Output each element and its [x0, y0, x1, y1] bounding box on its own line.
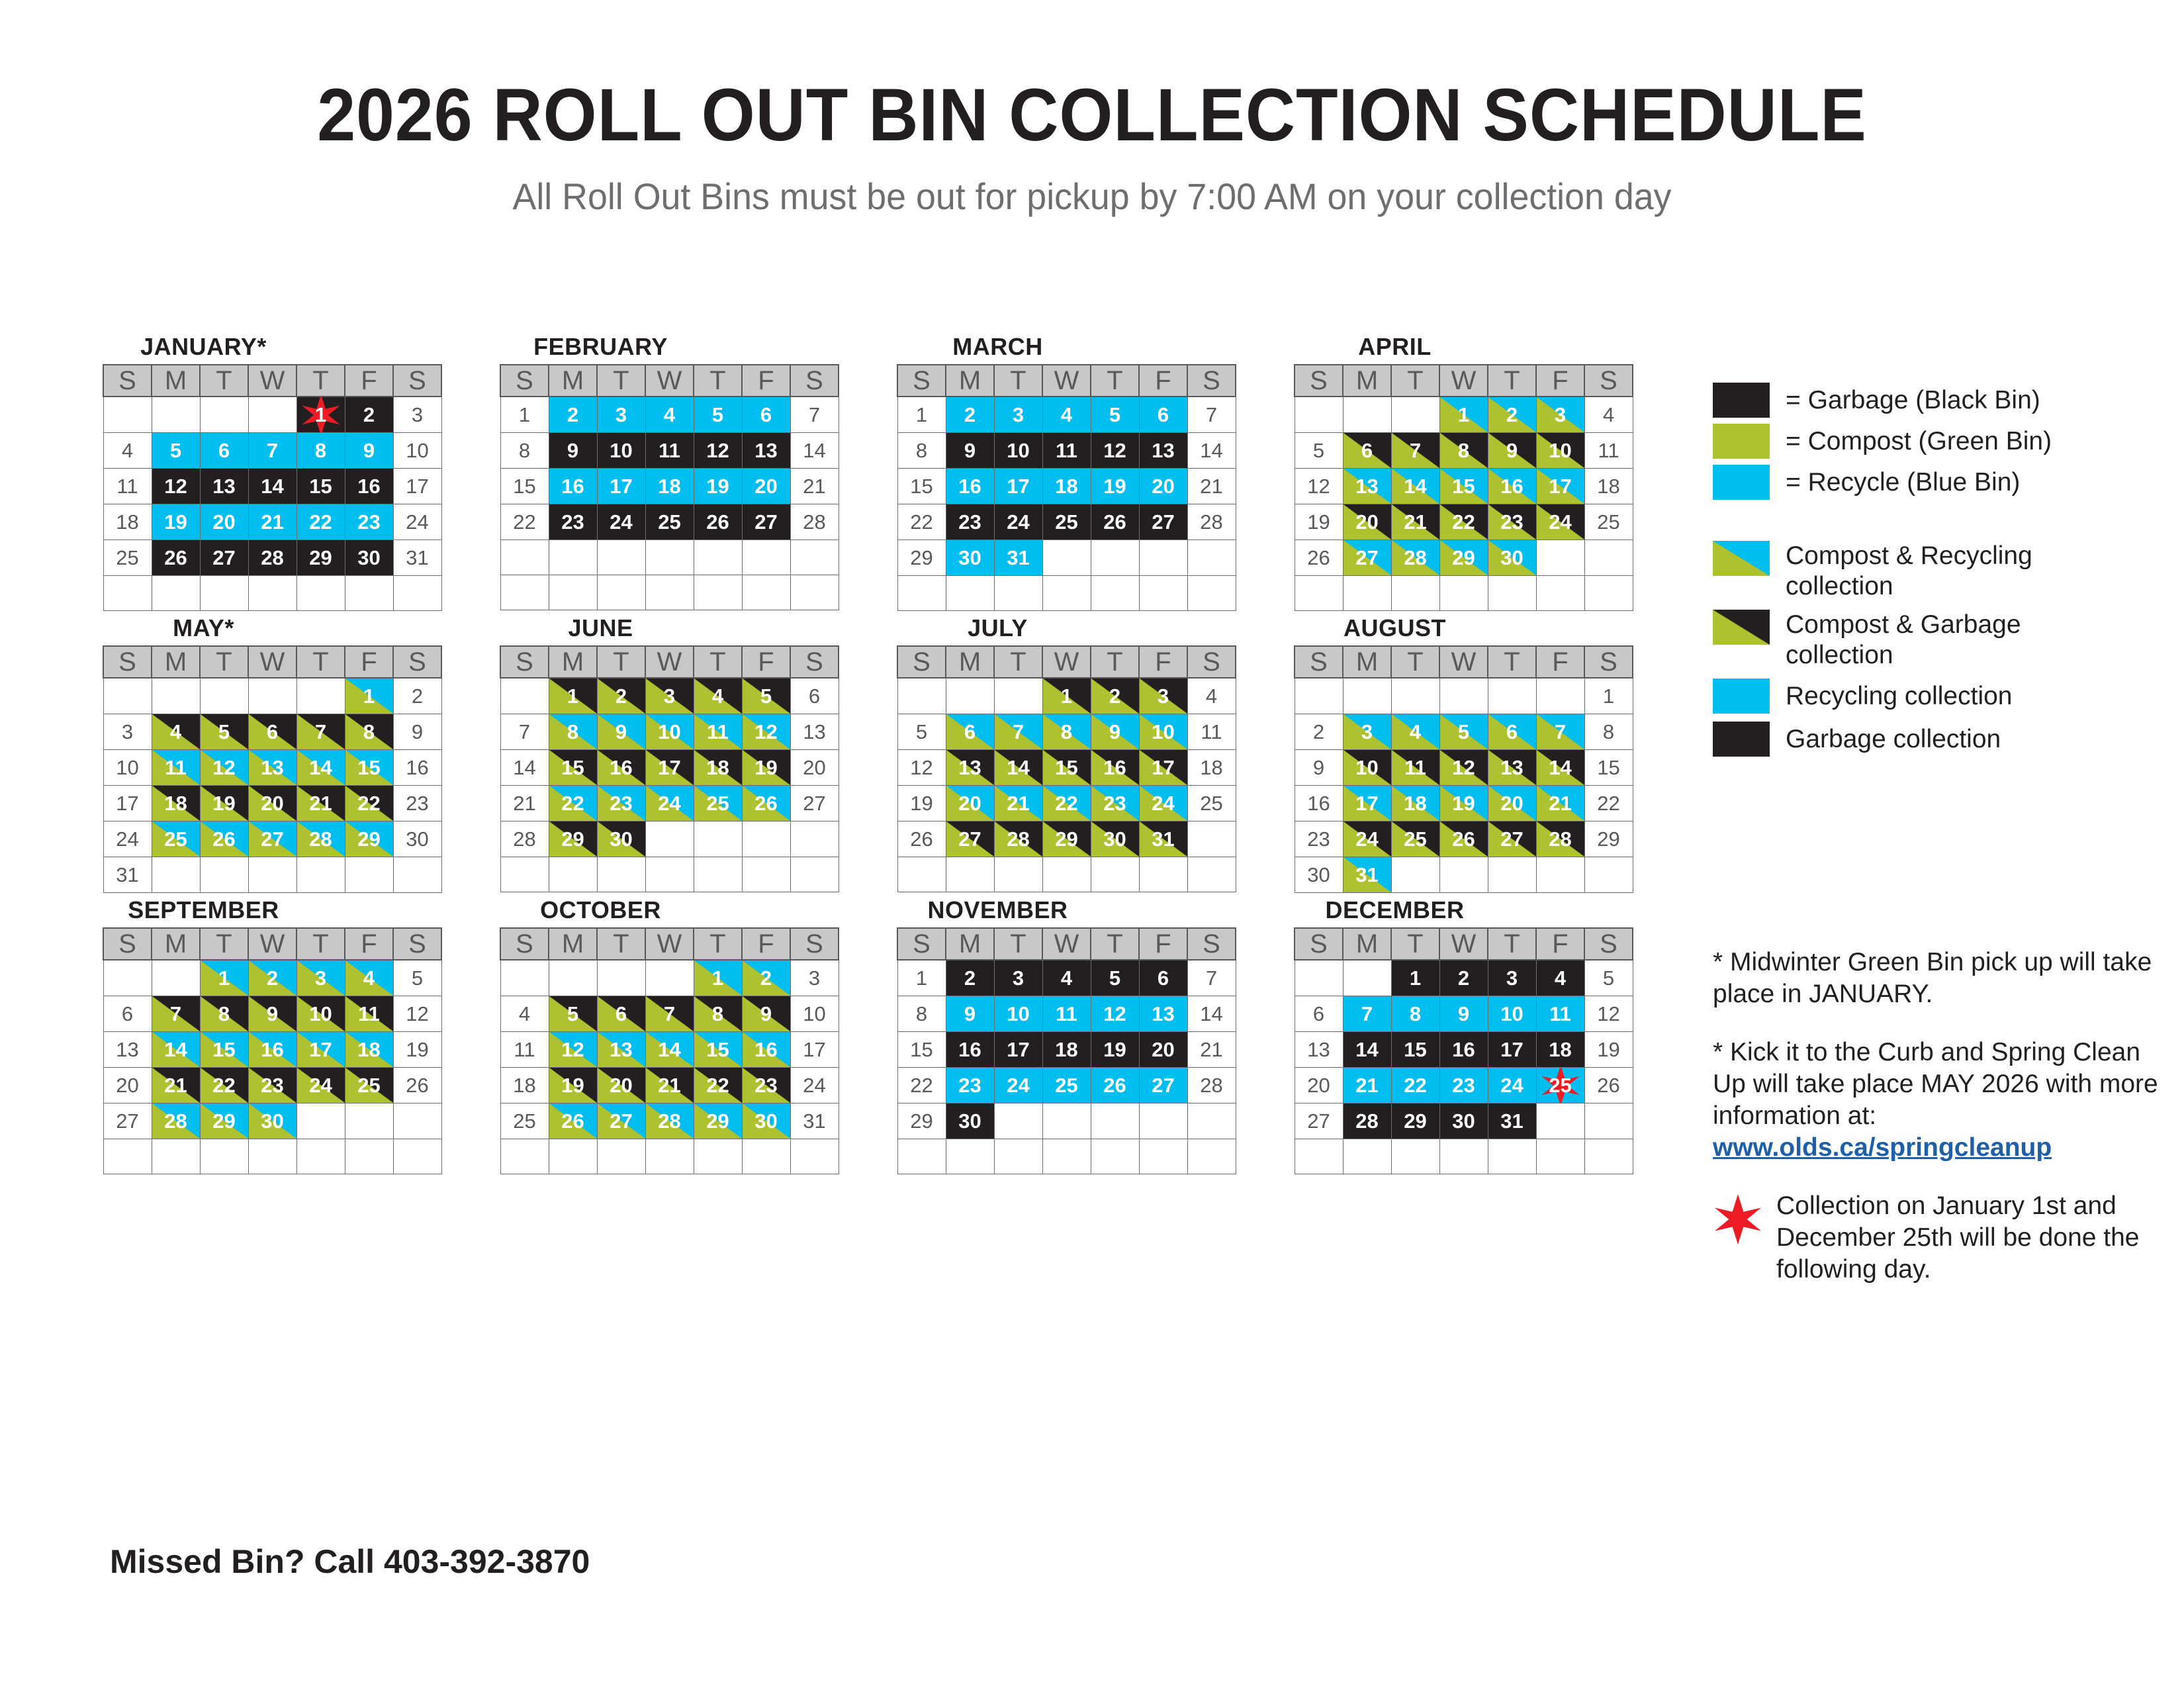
day-cell-black[interactable]: 2: [1439, 960, 1488, 996]
day-cell-no-collection[interactable]: 30: [1295, 857, 1343, 893]
day-cell-black[interactable]: 24: [994, 504, 1042, 540]
day-cell-no-collection[interactable]: 29: [897, 1103, 946, 1139]
day-cell-green-blue[interactable]: 27: [248, 821, 296, 857]
day-cell-green-blue[interactable]: 11: [694, 714, 742, 750]
day-cell-black[interactable]: 6: [1139, 960, 1187, 996]
day-cell-no-collection[interactable]: 19: [393, 1032, 441, 1068]
day-cell-black[interactable]: 12: [152, 469, 200, 504]
day-cell-green-blue[interactable]: 26: [549, 1103, 597, 1139]
day-cell-green-black[interactable]: 7: [645, 996, 694, 1032]
day-cell-black[interactable]: 3: [1488, 960, 1536, 996]
day-cell-no-collection[interactable]: 6: [103, 996, 152, 1032]
day-cell-green-blue[interactable]: 29: [1439, 540, 1488, 576]
day-cell-no-collection[interactable]: 21: [1187, 1032, 1236, 1068]
day-cell-no-collection[interactable]: 24: [790, 1068, 839, 1103]
day-cell-green-black[interactable]: 1: [1042, 678, 1091, 714]
day-cell-no-collection[interactable]: 17: [790, 1032, 839, 1068]
day-cell-black[interactable]: 4: [1536, 960, 1584, 996]
day-cell-blue[interactable]: 4: [645, 397, 694, 433]
day-cell-green-blue[interactable]: 30: [248, 1103, 296, 1139]
day-cell-green-black[interactable]: 14: [1536, 750, 1584, 786]
day-cell-green-blue[interactable]: 29: [694, 1103, 742, 1139]
day-cell-blue[interactable]: 22: [296, 504, 345, 540]
day-cell-no-collection[interactable]: 26: [1295, 540, 1343, 576]
day-cell-no-collection[interactable]: 28: [790, 504, 839, 540]
day-cell-black[interactable]: 11: [645, 433, 694, 469]
day-cell-green-blue[interactable]: 13: [248, 750, 296, 786]
day-cell-green-blue[interactable]: 13: [597, 1032, 645, 1068]
day-cell-black[interactable]: 12: [694, 433, 742, 469]
day-cell-green-blue[interactable]: 10: [1139, 714, 1187, 750]
day-cell-no-collection[interactable]: 9: [393, 714, 441, 750]
day-cell-black[interactable]: 10: [597, 433, 645, 469]
day-cell-no-collection[interactable]: 3: [393, 397, 441, 433]
day-cell-blue[interactable]: 25: [1536, 1068, 1584, 1103]
day-cell-green-black[interactable]: 16: [1091, 750, 1139, 786]
day-cell-no-collection[interactable]: 7: [790, 397, 839, 433]
day-cell-green-black[interactable]: 5: [200, 714, 248, 750]
day-cell-no-collection[interactable]: 16: [1295, 786, 1343, 821]
day-cell-blue[interactable]: 31: [994, 540, 1042, 576]
day-cell-green-black[interactable]: 4: [694, 678, 742, 714]
day-cell-green-blue[interactable]: 5: [1439, 714, 1488, 750]
day-cell-green-black[interactable]: 22: [200, 1068, 248, 1103]
day-cell-green-black[interactable]: 27: [1488, 821, 1536, 857]
day-cell-no-collection[interactable]: 12: [393, 996, 441, 1032]
day-cell-green-blue[interactable]: 25: [694, 786, 742, 821]
day-cell-blue[interactable]: 18: [645, 469, 694, 504]
day-cell-green-blue[interactable]: 14: [296, 750, 345, 786]
day-cell-green-black[interactable]: 18: [694, 750, 742, 786]
day-cell-no-collection[interactable]: 11: [500, 1032, 549, 1068]
day-cell-green-black[interactable]: 6: [248, 714, 296, 750]
day-cell-blue[interactable]: 7: [248, 433, 296, 469]
day-cell-blue[interactable]: 25: [1042, 1068, 1091, 1103]
day-cell-black[interactable]: 26: [152, 540, 200, 576]
day-cell-green-black[interactable]: 21: [152, 1068, 200, 1103]
day-cell-blue[interactable]: 10: [994, 996, 1042, 1032]
day-cell-no-collection[interactable]: 31: [393, 540, 441, 576]
day-cell-no-collection[interactable]: 29: [1584, 821, 1633, 857]
day-cell-green-black[interactable]: 8: [345, 714, 393, 750]
day-cell-no-collection[interactable]: 28: [500, 821, 549, 857]
day-cell-black[interactable]: 17: [994, 1032, 1042, 1068]
day-cell-blue[interactable]: 5: [152, 433, 200, 469]
day-cell-green-black[interactable]: 17: [645, 750, 694, 786]
day-cell-no-collection[interactable]: 3: [790, 960, 839, 996]
day-cell-no-collection[interactable]: 11: [1187, 714, 1236, 750]
day-cell-green-black[interactable]: 27: [946, 821, 994, 857]
day-cell-no-collection[interactable]: 12: [1584, 996, 1633, 1032]
day-cell-blue[interactable]: 19: [694, 469, 742, 504]
day-cell-no-collection[interactable]: 2: [1295, 714, 1343, 750]
day-cell-no-collection[interactable]: 17: [103, 786, 152, 821]
day-cell-green-black[interactable]: 23: [742, 1068, 790, 1103]
day-cell-no-collection[interactable]: 25: [500, 1103, 549, 1139]
day-cell-green-blue[interactable]: 12: [200, 750, 248, 786]
day-cell-blue[interactable]: 5: [694, 397, 742, 433]
day-cell-green-black[interactable]: 24: [296, 1068, 345, 1103]
day-cell-green-blue[interactable]: 23: [597, 786, 645, 821]
day-cell-green-black[interactable]: 12: [1439, 750, 1488, 786]
day-cell-green-blue[interactable]: 9: [1091, 714, 1139, 750]
day-cell-green-blue[interactable]: 30: [742, 1103, 790, 1139]
day-cell-green-blue[interactable]: 1: [200, 960, 248, 996]
day-cell-green-black[interactable]: 15: [1042, 750, 1091, 786]
day-cell-green-blue[interactable]: 26: [742, 786, 790, 821]
day-cell-blue[interactable]: 23: [946, 1068, 994, 1103]
day-cell-no-collection[interactable]: 11: [1584, 433, 1633, 469]
day-cell-no-collection[interactable]: 8: [500, 433, 549, 469]
day-cell-green-blue[interactable]: 21: [994, 786, 1042, 821]
day-cell-green-blue[interactable]: 1: [1439, 397, 1488, 433]
day-cell-no-collection[interactable]: 15: [897, 1032, 946, 1068]
day-cell-no-collection[interactable]: 21: [790, 469, 839, 504]
day-cell-black[interactable]: 15: [1391, 1032, 1439, 1068]
day-cell-blue[interactable]: 16: [549, 469, 597, 504]
day-cell-green-black[interactable]: 23: [248, 1068, 296, 1103]
day-cell-no-collection[interactable]: 19: [1584, 1032, 1633, 1068]
day-cell-no-collection[interactable]: 13: [103, 1032, 152, 1068]
day-cell-green-black[interactable]: 4: [152, 714, 200, 750]
day-cell-black[interactable]: 30: [1439, 1103, 1488, 1139]
day-cell-no-collection[interactable]: 4: [103, 433, 152, 469]
day-cell-no-collection[interactable]: 14: [790, 433, 839, 469]
day-cell-no-collection[interactable]: 22: [897, 504, 946, 540]
day-cell-no-collection[interactable]: 7: [1187, 397, 1236, 433]
day-cell-no-collection[interactable]: 18: [1584, 469, 1633, 504]
day-cell-green-blue[interactable]: 9: [597, 714, 645, 750]
day-cell-no-collection[interactable]: 13: [1295, 1032, 1343, 1068]
day-cell-green-blue[interactable]: 16: [1488, 469, 1536, 504]
day-cell-green-blue[interactable]: 17: [296, 1032, 345, 1068]
day-cell-blue[interactable]: 21: [248, 504, 296, 540]
day-cell-blue[interactable]: 17: [994, 469, 1042, 504]
day-cell-black[interactable]: 27: [742, 504, 790, 540]
day-cell-no-collection[interactable]: 19: [897, 786, 946, 821]
day-cell-green-black[interactable]: 26: [1439, 821, 1488, 857]
day-cell-green-blue[interactable]: 13: [1343, 469, 1391, 504]
day-cell-green-black[interactable]: 29: [1042, 821, 1091, 857]
day-cell-green-blue[interactable]: 3: [1343, 714, 1391, 750]
day-cell-green-black[interactable]: 24: [1536, 504, 1584, 540]
day-cell-black[interactable]: 26: [694, 504, 742, 540]
day-cell-green-black[interactable]: 8: [694, 996, 742, 1032]
day-cell-green-black[interactable]: 16: [597, 750, 645, 786]
day-cell-green-blue[interactable]: 7: [994, 714, 1042, 750]
day-cell-green-blue[interactable]: 18: [1391, 786, 1439, 821]
day-cell-green-black[interactable]: 23: [1488, 504, 1536, 540]
day-cell-blue[interactable]: 8: [296, 433, 345, 469]
day-cell-no-collection[interactable]: 10: [790, 996, 839, 1032]
day-cell-green-black[interactable]: 9: [1488, 433, 1536, 469]
day-cell-green-black[interactable]: 11: [345, 996, 393, 1032]
day-cell-black[interactable]: 27: [1139, 504, 1187, 540]
day-cell-green-black[interactable]: 9: [248, 996, 296, 1032]
day-cell-no-collection[interactable]: 14: [1187, 996, 1236, 1032]
day-cell-green-blue[interactable]: 28: [1391, 540, 1439, 576]
day-cell-no-collection[interactable]: 22: [1584, 786, 1633, 821]
day-cell-no-collection[interactable]: 27: [790, 786, 839, 821]
day-cell-black[interactable]: 16: [946, 1032, 994, 1068]
day-cell-green-blue[interactable]: 27: [1343, 540, 1391, 576]
day-cell-green-black[interactable]: 1: [549, 678, 597, 714]
day-cell-green-blue[interactable]: 25: [152, 821, 200, 857]
day-cell-black[interactable]: 29: [296, 540, 345, 576]
day-cell-blue[interactable]: 19: [1091, 469, 1139, 504]
day-cell-blue[interactable]: 23: [345, 504, 393, 540]
day-cell-green-blue[interactable]: 17: [1343, 786, 1391, 821]
day-cell-green-black[interactable]: 7: [152, 996, 200, 1032]
day-cell-black[interactable]: 9: [946, 433, 994, 469]
day-cell-green-black[interactable]: 19: [742, 750, 790, 786]
day-cell-no-collection[interactable]: 11: [103, 469, 152, 504]
day-cell-blue[interactable]: 2: [549, 397, 597, 433]
day-cell-green-blue[interactable]: 30: [1488, 540, 1536, 576]
day-cell-no-collection[interactable]: 5: [393, 960, 441, 996]
day-cell-black[interactable]: 9: [549, 433, 597, 469]
day-cell-black[interactable]: 25: [1042, 504, 1091, 540]
day-cell-black[interactable]: 18: [1536, 1032, 1584, 1068]
day-cell-black[interactable]: 14: [1343, 1032, 1391, 1068]
day-cell-black[interactable]: 13: [200, 469, 248, 504]
day-cell-green-black[interactable]: 10: [296, 996, 345, 1032]
day-cell-no-collection[interactable]: 17: [393, 469, 441, 504]
day-cell-black[interactable]: 31: [1488, 1103, 1536, 1139]
day-cell-no-collection[interactable]: 26: [1584, 1068, 1633, 1103]
day-cell-blue[interactable]: 7: [1343, 996, 1391, 1032]
day-cell-no-collection[interactable]: 21: [1187, 469, 1236, 504]
day-cell-no-collection[interactable]: 6: [790, 678, 839, 714]
day-cell-green-black[interactable]: 13: [1488, 750, 1536, 786]
day-cell-green-blue[interactable]: 8: [1042, 714, 1091, 750]
day-cell-no-collection[interactable]: 16: [393, 750, 441, 786]
day-cell-no-collection[interactable]: 18: [500, 1068, 549, 1103]
day-cell-green-blue[interactable]: 27: [597, 1103, 645, 1139]
day-cell-green-blue[interactable]: 28: [152, 1103, 200, 1139]
day-cell-green-blue[interactable]: 15: [1439, 469, 1488, 504]
day-cell-black[interactable]: 12: [1091, 433, 1139, 469]
day-cell-black[interactable]: 16: [1439, 1032, 1488, 1068]
day-cell-green-blue[interactable]: 6: [1488, 714, 1536, 750]
day-cell-green-blue[interactable]: 16: [248, 1032, 296, 1068]
day-cell-green-blue[interactable]: 16: [742, 1032, 790, 1068]
day-cell-no-collection[interactable]: 23: [1295, 821, 1343, 857]
day-cell-green-black[interactable]: 22: [1439, 504, 1488, 540]
day-cell-black[interactable]: 15: [296, 469, 345, 504]
day-cell-no-collection[interactable]: 1: [897, 960, 946, 996]
day-cell-green-blue[interactable]: 11: [152, 750, 200, 786]
day-cell-green-blue[interactable]: 1: [694, 960, 742, 996]
day-cell-black[interactable]: 13: [1139, 433, 1187, 469]
day-cell-green-blue[interactable]: 2: [248, 960, 296, 996]
day-cell-green-blue[interactable]: 14: [152, 1032, 200, 1068]
day-cell-green-blue[interactable]: 28: [645, 1103, 694, 1139]
day-cell-green-blue[interactable]: 19: [1439, 786, 1488, 821]
day-cell-black[interactable]: 11: [1042, 433, 1091, 469]
day-cell-blue[interactable]: 11: [1042, 996, 1091, 1032]
day-cell-green-black[interactable]: 8: [1439, 433, 1488, 469]
day-cell-green-black[interactable]: 28: [994, 821, 1042, 857]
day-cell-green-black[interactable]: 8: [200, 996, 248, 1032]
day-cell-green-blue[interactable]: 2: [742, 960, 790, 996]
day-cell-blue[interactable]: 12: [1091, 996, 1139, 1032]
day-cell-blue[interactable]: 20: [1139, 469, 1187, 504]
day-cell-green-blue[interactable]: 31: [1343, 857, 1391, 893]
day-cell-green-black[interactable]: 6: [597, 996, 645, 1032]
day-cell-green-blue[interactable]: 24: [645, 786, 694, 821]
day-cell-no-collection[interactable]: 14: [1187, 433, 1236, 469]
day-cell-green-black[interactable]: 10: [1536, 433, 1584, 469]
day-cell-blue[interactable]: 4: [1042, 397, 1091, 433]
day-cell-black[interactable]: 27: [200, 540, 248, 576]
day-cell-black[interactable]: 10: [994, 433, 1042, 469]
day-cell-green-blue[interactable]: 14: [1391, 469, 1439, 504]
day-cell-green-black[interactable]: 9: [742, 996, 790, 1032]
day-cell-blue[interactable]: 9: [1439, 996, 1488, 1032]
day-cell-green-black[interactable]: 2: [1091, 678, 1139, 714]
day-cell-green-blue[interactable]: 29: [345, 821, 393, 857]
day-cell-black[interactable]: 2: [946, 960, 994, 996]
day-cell-green-blue[interactable]: 20: [946, 786, 994, 821]
day-cell-blue[interactable]: 17: [597, 469, 645, 504]
day-cell-no-collection[interactable]: 2: [393, 678, 441, 714]
day-cell-no-collection[interactable]: 13: [790, 714, 839, 750]
day-cell-green-black[interactable]: 31: [1139, 821, 1187, 857]
day-cell-blue[interactable]: 30: [946, 540, 994, 576]
day-cell-green-black[interactable]: 22: [694, 1068, 742, 1103]
day-cell-black[interactable]: 16: [345, 469, 393, 504]
day-cell-green-black[interactable]: 21: [1391, 504, 1439, 540]
day-cell-no-collection[interactable]: 15: [897, 469, 946, 504]
day-cell-black[interactable]: 3: [994, 960, 1042, 996]
day-cell-green-black[interactable]: 25: [1391, 821, 1439, 857]
day-cell-blue[interactable]: 24: [994, 1068, 1042, 1103]
day-cell-green-blue[interactable]: 12: [549, 1032, 597, 1068]
day-cell-black[interactable]: 13: [742, 433, 790, 469]
day-cell-black[interactable]: 2: [345, 397, 393, 433]
day-cell-green-blue[interactable]: 2: [1488, 397, 1536, 433]
day-cell-green-black[interactable]: 30: [597, 821, 645, 857]
day-cell-no-collection[interactable]: 14: [500, 750, 549, 786]
day-cell-no-collection[interactable]: 4: [500, 996, 549, 1032]
day-cell-no-collection[interactable]: 18: [1187, 750, 1236, 786]
day-cell-blue[interactable]: 20: [742, 469, 790, 504]
day-cell-no-collection[interactable]: 1: [897, 397, 946, 433]
day-cell-green-black[interactable]: 20: [597, 1068, 645, 1103]
day-cell-no-collection[interactable]: 29: [897, 540, 946, 576]
day-cell-no-collection[interactable]: 27: [1295, 1103, 1343, 1139]
day-cell-green-black[interactable]: 24: [1343, 821, 1391, 857]
day-cell-green-blue[interactable]: 6: [946, 714, 994, 750]
day-cell-blue[interactable]: 6: [1139, 397, 1187, 433]
day-cell-blue[interactable]: 18: [1042, 469, 1091, 504]
day-cell-blue[interactable]: 16: [946, 469, 994, 504]
day-cell-no-collection[interactable]: 18: [103, 504, 152, 540]
day-cell-no-collection[interactable]: 31: [103, 857, 152, 893]
day-cell-green-black[interactable]: 2: [597, 678, 645, 714]
day-cell-green-black[interactable]: 13: [946, 750, 994, 786]
day-cell-green-black[interactable]: 21: [645, 1068, 694, 1103]
day-cell-green-blue[interactable]: 12: [742, 714, 790, 750]
day-cell-no-collection[interactable]: 8: [897, 433, 946, 469]
day-cell-green-black[interactable]: 3: [645, 678, 694, 714]
day-cell-green-blue[interactable]: 3: [1536, 397, 1584, 433]
springcleanup-link[interactable]: www.olds.ca/springcleanup: [1713, 1133, 2052, 1162]
day-cell-blue[interactable]: 10: [1488, 996, 1536, 1032]
day-cell-no-collection[interactable]: 8: [1584, 714, 1633, 750]
day-cell-green-black[interactable]: 11: [1391, 750, 1439, 786]
day-cell-blue[interactable]: 21: [1343, 1068, 1391, 1103]
day-cell-no-collection[interactable]: 10: [393, 433, 441, 469]
day-cell-green-blue[interactable]: 17: [1536, 469, 1584, 504]
day-cell-no-collection[interactable]: 7: [1187, 960, 1236, 996]
day-cell-no-collection[interactable]: 5: [1584, 960, 1633, 996]
day-cell-blue[interactable]: 9: [345, 433, 393, 469]
day-cell-black[interactable]: 25: [645, 504, 694, 540]
day-cell-no-collection[interactable]: 9: [1295, 750, 1343, 786]
day-cell-no-collection[interactable]: 6: [1295, 996, 1343, 1032]
day-cell-green-blue[interactable]: 14: [645, 1032, 694, 1068]
day-cell-black[interactable]: 28: [248, 540, 296, 576]
day-cell-no-collection[interactable]: 1: [500, 397, 549, 433]
day-cell-blue[interactable]: 27: [1139, 1068, 1187, 1103]
day-cell-green-black[interactable]: 7: [1391, 433, 1439, 469]
day-cell-green-blue[interactable]: 22: [549, 786, 597, 821]
day-cell-no-collection[interactable]: 27: [103, 1103, 152, 1139]
day-cell-black[interactable]: 29: [1391, 1103, 1439, 1139]
day-cell-green-blue[interactable]: 29: [200, 1103, 248, 1139]
day-cell-black[interactable]: 4: [1042, 960, 1091, 996]
day-cell-no-collection[interactable]: 10: [103, 750, 152, 786]
day-cell-green-blue[interactable]: 22: [1042, 786, 1091, 821]
day-cell-green-black[interactable]: 6: [1343, 433, 1391, 469]
day-cell-green-black[interactable]: 29: [549, 821, 597, 857]
day-cell-green-blue[interactable]: 20: [1488, 786, 1536, 821]
day-cell-green-black[interactable]: 20: [1343, 504, 1391, 540]
day-cell-green-blue[interactable]: 3: [296, 960, 345, 996]
day-cell-black[interactable]: 24: [597, 504, 645, 540]
day-cell-green-black[interactable]: 5: [742, 678, 790, 714]
day-cell-no-collection[interactable]: 19: [1295, 504, 1343, 540]
day-cell-black[interactable]: 1: [1391, 960, 1439, 996]
day-cell-no-collection[interactable]: 25: [1584, 504, 1633, 540]
day-cell-green-black[interactable]: 19: [549, 1068, 597, 1103]
day-cell-green-black[interactable]: 22: [345, 786, 393, 821]
day-cell-no-collection[interactable]: 1: [1584, 678, 1633, 714]
day-cell-no-collection[interactable]: 28: [1187, 504, 1236, 540]
day-cell-no-collection[interactable]: 4: [1584, 397, 1633, 433]
day-cell-black[interactable]: 19: [1091, 1032, 1139, 1068]
day-cell-blue[interactable]: 20: [200, 504, 248, 540]
day-cell-no-collection[interactable]: 12: [897, 750, 946, 786]
day-cell-no-collection[interactable]: 26: [897, 821, 946, 857]
day-cell-green-blue[interactable]: 15: [694, 1032, 742, 1068]
day-cell-blue[interactable]: 13: [1139, 996, 1187, 1032]
day-cell-no-collection[interactable]: 25: [103, 540, 152, 576]
day-cell-green-black[interactable]: 21: [296, 786, 345, 821]
day-cell-green-black[interactable]: 7: [296, 714, 345, 750]
day-cell-green-blue[interactable]: 10: [645, 714, 694, 750]
day-cell-green-blue[interactable]: 15: [345, 750, 393, 786]
day-cell-green-black[interactable]: 17: [1139, 750, 1187, 786]
day-cell-no-collection[interactable]: 20: [790, 750, 839, 786]
day-cell-green-blue[interactable]: 26: [200, 821, 248, 857]
day-cell-black[interactable]: 23: [549, 504, 597, 540]
day-cell-green-blue[interactable]: 4: [345, 960, 393, 996]
day-cell-green-black[interactable]: 5: [549, 996, 597, 1032]
day-cell-black[interactable]: 30: [345, 540, 393, 576]
